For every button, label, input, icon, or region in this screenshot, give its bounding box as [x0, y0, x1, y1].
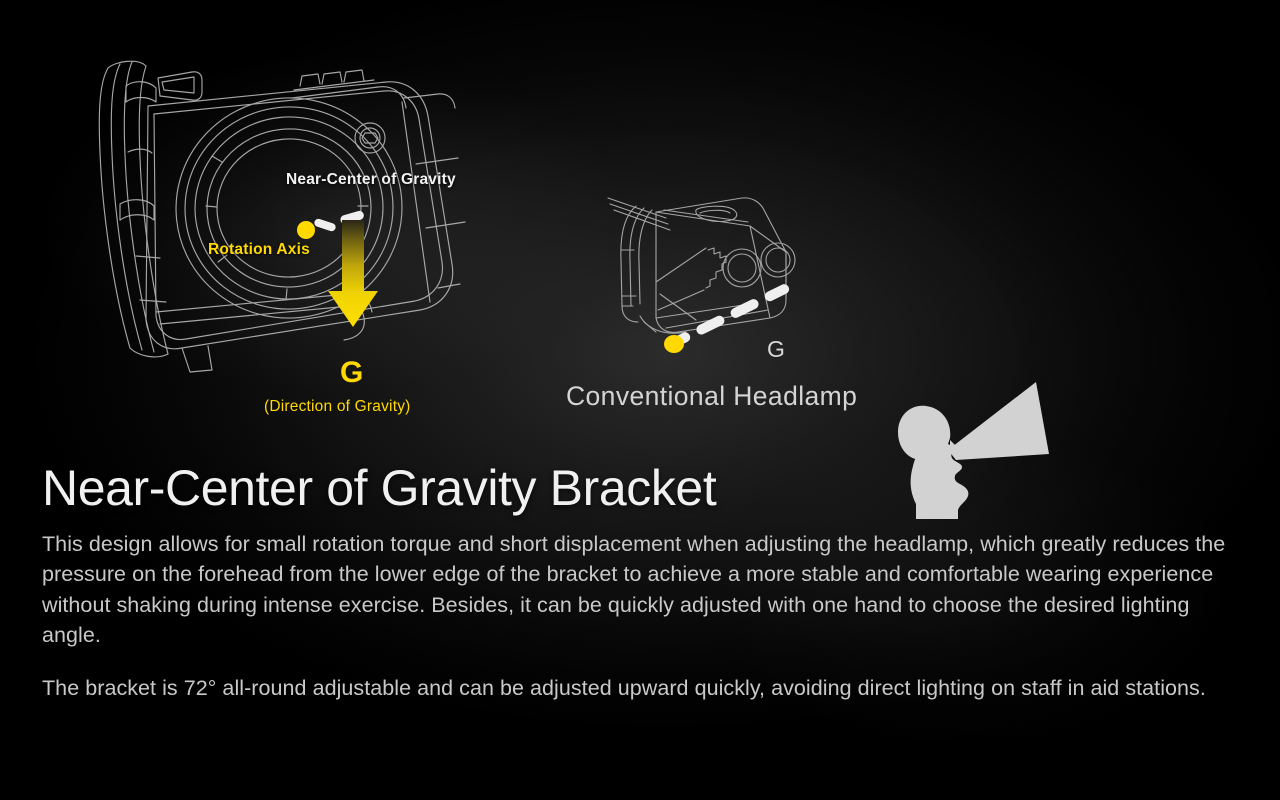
description-paragraph-2: The bracket is 72° all-round adjustable …: [42, 673, 1232, 704]
label-conventional-headlamp: Conventional Headlamp: [566, 381, 857, 412]
label-rotation-axis: Rotation Axis: [208, 241, 310, 259]
description-paragraph-1: This design allows for small rotation to…: [42, 529, 1237, 651]
gravity-indicator-main: [280, 195, 390, 340]
label-gravity-g-main: G: [340, 358, 364, 388]
label-direction-of-gravity: (Direction of Gravity): [264, 398, 411, 416]
label-near-center-of-gravity: Near-Center of Gravity: [286, 171, 456, 189]
page-title: Near-Center of Gravity Bracket: [42, 462, 1242, 515]
product-feature-slide: Near-Center of Gravity Rotation Axis G (…: [0, 0, 1280, 800]
gravity-indicator-conventional: [658, 276, 818, 362]
label-gravity-g-conventional: G: [767, 338, 785, 361]
content-block: Near-Center of Gravity Bracket This desi…: [42, 462, 1242, 703]
